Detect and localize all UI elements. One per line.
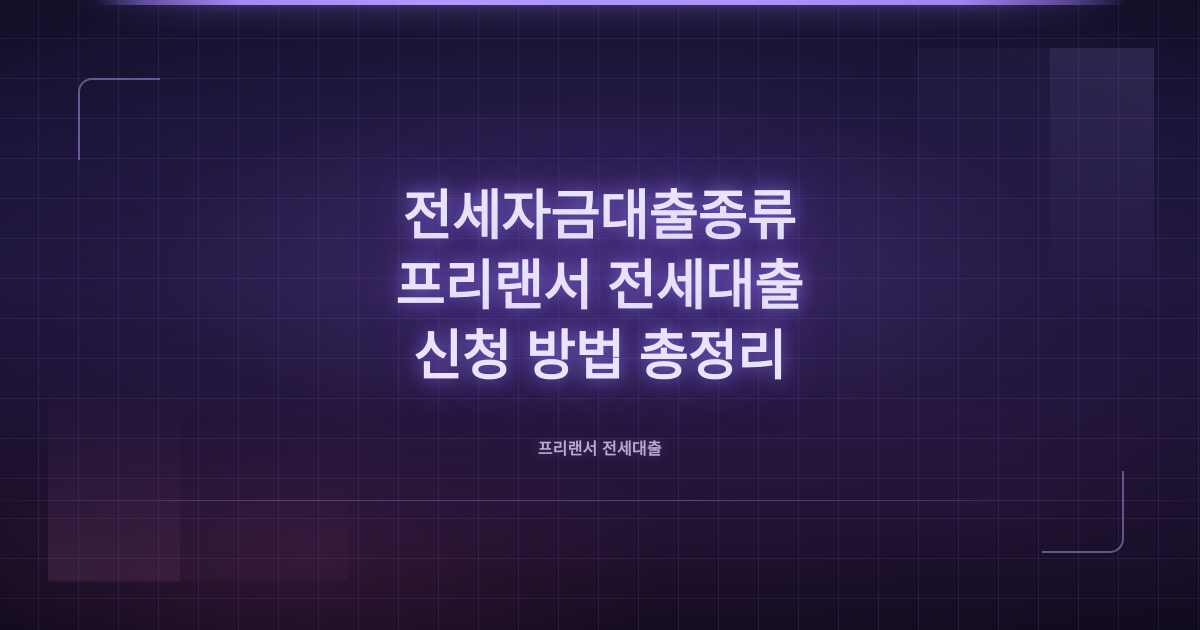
page-subtitle: 프리랜서 전세대출 [538,391,662,459]
card-content: 전세자금대출종류 프리랜서 전세대출 신청 방법 총정리 프리랜서 전세대출 [0,0,1200,630]
page-title: 전세자금대출종류 프리랜서 전세대출 신청 방법 총정리 [396,181,804,392]
thumbnail-card: 전세자금대출종류 프리랜서 전세대출 신청 방법 총정리 프리랜서 전세대출 [0,0,1200,630]
